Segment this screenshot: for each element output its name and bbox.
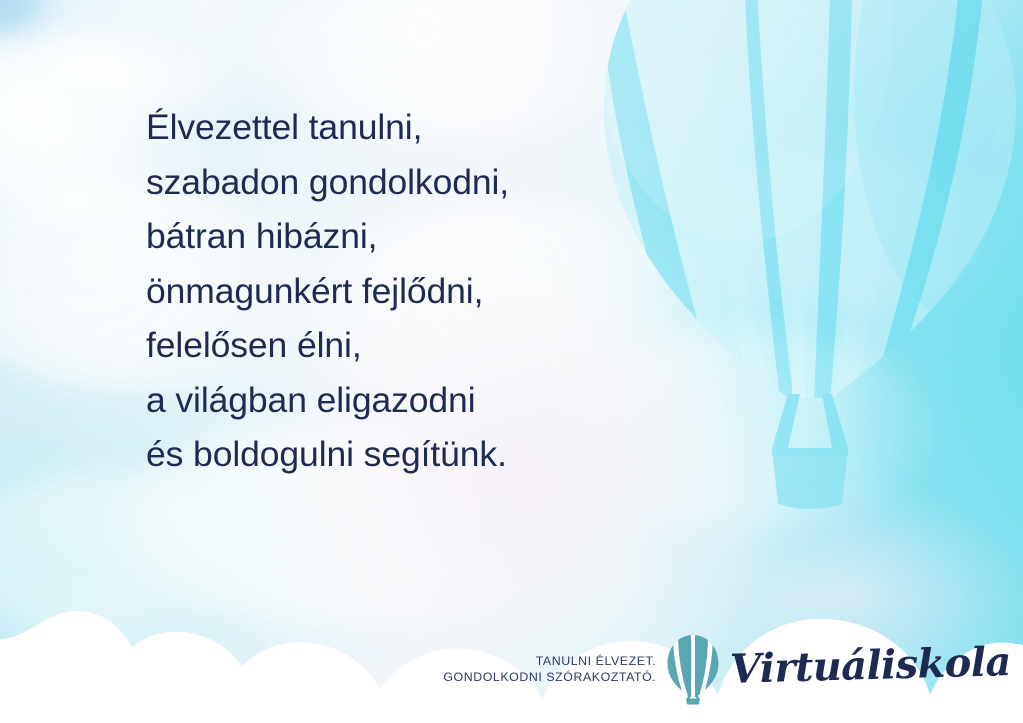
headline-line-3: bátran hibázni,: [146, 209, 706, 264]
poster-canvas: Élvezettel tanulni, szabadon gondolkodni…: [0, 0, 1023, 723]
hot-air-balloon-icon: [665, 633, 721, 705]
tagline-line-2: GONDOLKODNI SZÓRAKOZTATÓ.: [443, 669, 656, 686]
tagline-line-1: TANULNI ÉLVEZET.: [443, 653, 656, 670]
headline-line-1: Élvezettel tanulni,: [146, 100, 706, 155]
headline-line-2: szabadon gondolkodni,: [146, 155, 706, 210]
headline-mission-statement: Élvezettel tanulni, szabadon gondolkodni…: [146, 100, 706, 482]
headline-line-7: és boldogulni segítünk.: [146, 427, 706, 482]
headline-line-4: önmagunkért fejlődni,: [146, 264, 706, 319]
logo-lockup[interactable]: TANULNI ÉLVEZET. GONDOLKODNI SZÓRAKOZTAT…: [443, 633, 1011, 705]
brand-wordmark: Virtuáliskola: [730, 642, 1012, 690]
brand-tagline: TANULNI ÉLVEZET. GONDOLKODNI SZÓRAKOZTAT…: [443, 653, 656, 686]
headline-line-5: felelősen élni,: [146, 318, 706, 373]
headline-line-6: a világban eligazodni: [146, 373, 706, 428]
